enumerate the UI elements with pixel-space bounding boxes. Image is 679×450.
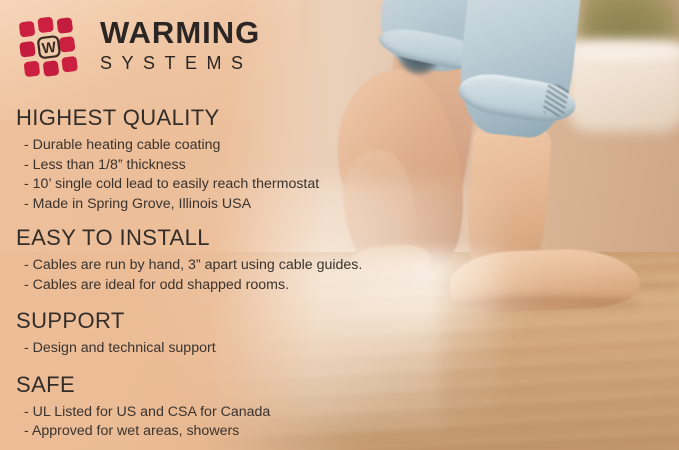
section-spacer [14, 297, 384, 307]
section-title: SAFE [16, 371, 384, 399]
feature-list: HIGHEST QUALITY - Durable heating cable … [14, 104, 384, 444]
feature-bullet: - Made in Spring Grove, Illinois USA [24, 195, 384, 215]
product-feature-image: W WARMING SYSTEMS HIGHEST QUALITY - Dura… [0, 0, 679, 450]
feature-section-easy-to-install: EASY TO INSTALL - Cables are run by hand… [14, 224, 384, 295]
feature-bullet: - Cables are ideal for odd shapped rooms… [24, 276, 384, 296]
section-title: EASY TO INSTALL [16, 224, 384, 252]
feature-bullet: - 10’ single cold lead to easily reach t… [24, 175, 384, 195]
feature-section-safe: SAFE - UL Listed for US and CSA for Cana… [14, 371, 384, 442]
warming-systems-tile-grid-logo: W [16, 14, 84, 82]
feature-section-support: SUPPORT - Design and technical support [14, 307, 384, 359]
feature-section-highest-quality: HIGHEST QUALITY - Durable heating cable … [14, 104, 384, 214]
feature-bullet: - Design and technical support [24, 339, 384, 359]
feature-bullet: - Approved for wet areas, showers [24, 422, 384, 442]
brand-wordmark: WARMING SYSTEMS [100, 16, 310, 75]
feature-bullet: - Cables are run by hand, 3” apart using… [24, 256, 384, 276]
feature-bullet: - UL Listed for US and CSA for Canada [24, 403, 384, 423]
section-title: SUPPORT [16, 307, 384, 335]
section-spacer [14, 361, 384, 371]
section-title: HIGHEST QUALITY [16, 104, 384, 132]
section-spacer [14, 216, 384, 224]
feature-bullet: - Less than 1/8” thickness [24, 156, 384, 176]
brand-logo[interactable]: W WARMING SYSTEMS [16, 12, 316, 84]
brand-name-line2: SYSTEMS [100, 51, 310, 75]
feature-bullet: - Durable heating cable coating [24, 136, 384, 156]
brand-name-line1: WARMING [100, 16, 310, 50]
